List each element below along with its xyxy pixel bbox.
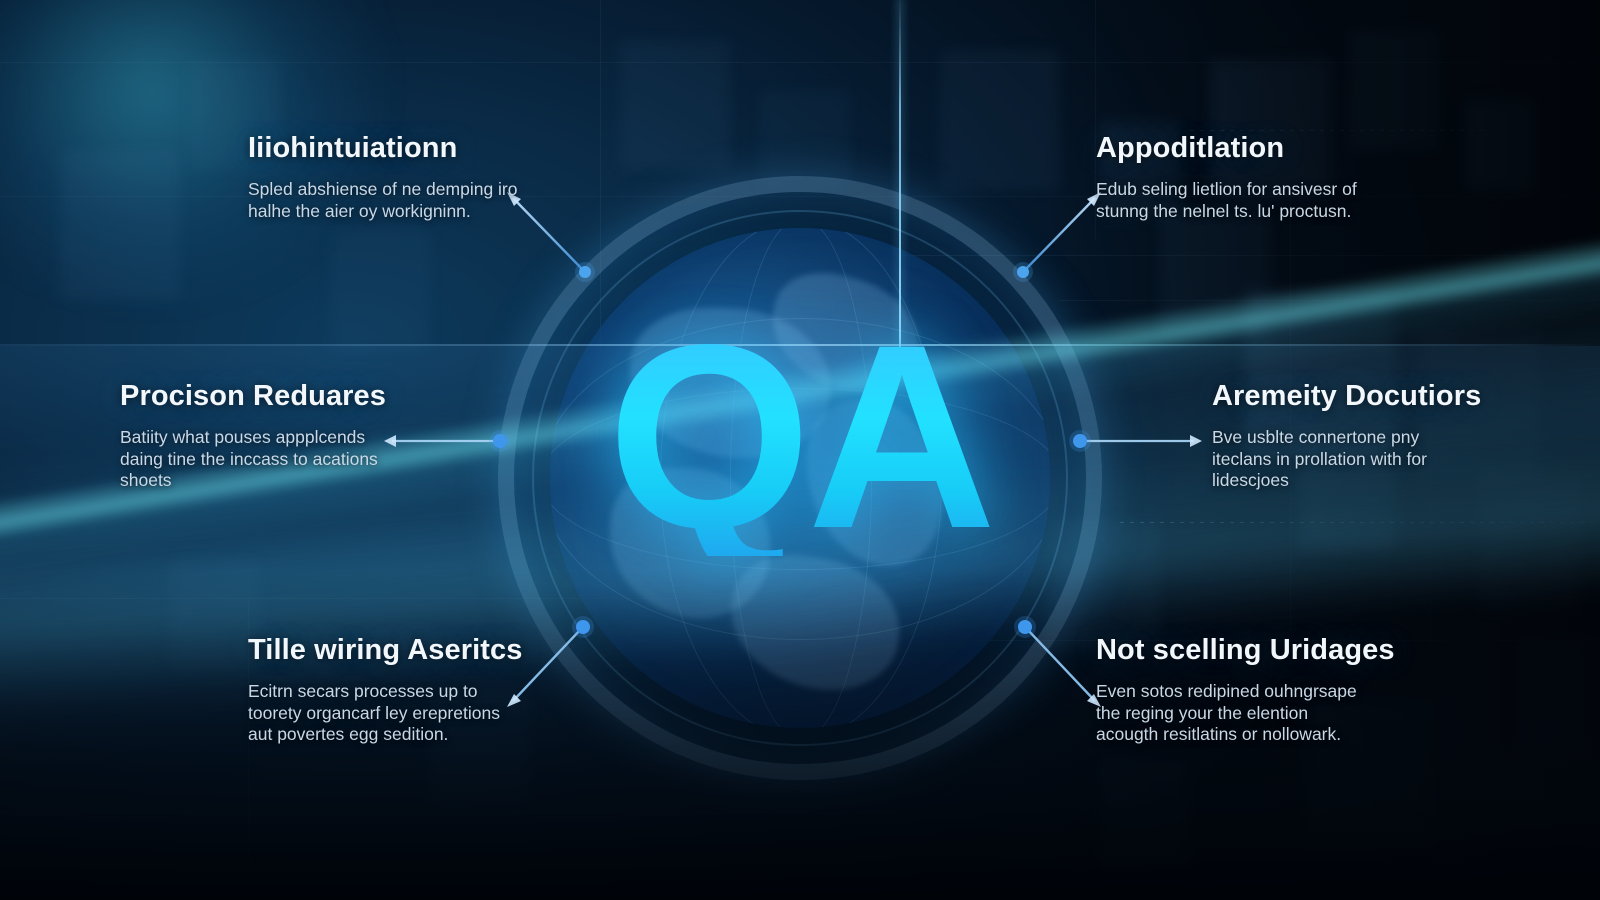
background-blur-block	[760, 90, 850, 190]
node-mid-right-body: Bve usblte connertone pny iteclans in pr…	[1212, 427, 1482, 492]
node-top-right-body: Edub seling lietlion for ansivesr of stu…	[1096, 179, 1366, 222]
connector-top-right	[1003, 190, 1103, 285]
node-bottom-right-body: Even sotos redipined ouhngrsape the regi…	[1096, 681, 1366, 746]
node-mid-left-body: Batiity what pouses appplcends daing tin…	[120, 427, 390, 492]
node-mid-left: Procison Reduares Batiity what pouses ap…	[120, 380, 410, 492]
connector-bottom-right	[1003, 615, 1103, 710]
node-mid-right: Aremeity Docutiors Bve usblte connertone…	[1212, 380, 1502, 492]
node-bottom-right: Not scelling Uridages Even sotos redipin…	[1096, 634, 1386, 746]
node-bottom-left-title: Tille wiring Aseritcs	[248, 634, 538, 667]
connector-mid-right	[1068, 428, 1204, 454]
background-blur-block	[60, 150, 180, 300]
node-top-left: Iiiohintuiationn Spled abshiense of ne d…	[248, 132, 528, 222]
node-bottom-left-body: Ecitrn secars processes up to toorety or…	[248, 681, 518, 746]
node-bottom-right-title: Not scelling Uridages	[1096, 634, 1386, 667]
node-top-left-body: Spled abshiense of ne demping iro halhe …	[248, 179, 518, 222]
node-mid-right-title: Aremeity Docutiors	[1212, 380, 1502, 413]
node-top-right-title: Appoditlation	[1096, 132, 1376, 165]
node-mid-left-title: Procison Reduares	[120, 380, 410, 413]
node-bottom-left: Tille wiring Aseritcs Ecitrn secars proc…	[248, 634, 538, 746]
background-blur-block	[620, 40, 730, 170]
node-top-left-title: Iiiohintuiationn	[248, 132, 528, 165]
infographic-canvas: QA	[0, 0, 1600, 900]
node-top-right: Appoditlation Edub seling lietlion for a…	[1096, 132, 1376, 222]
